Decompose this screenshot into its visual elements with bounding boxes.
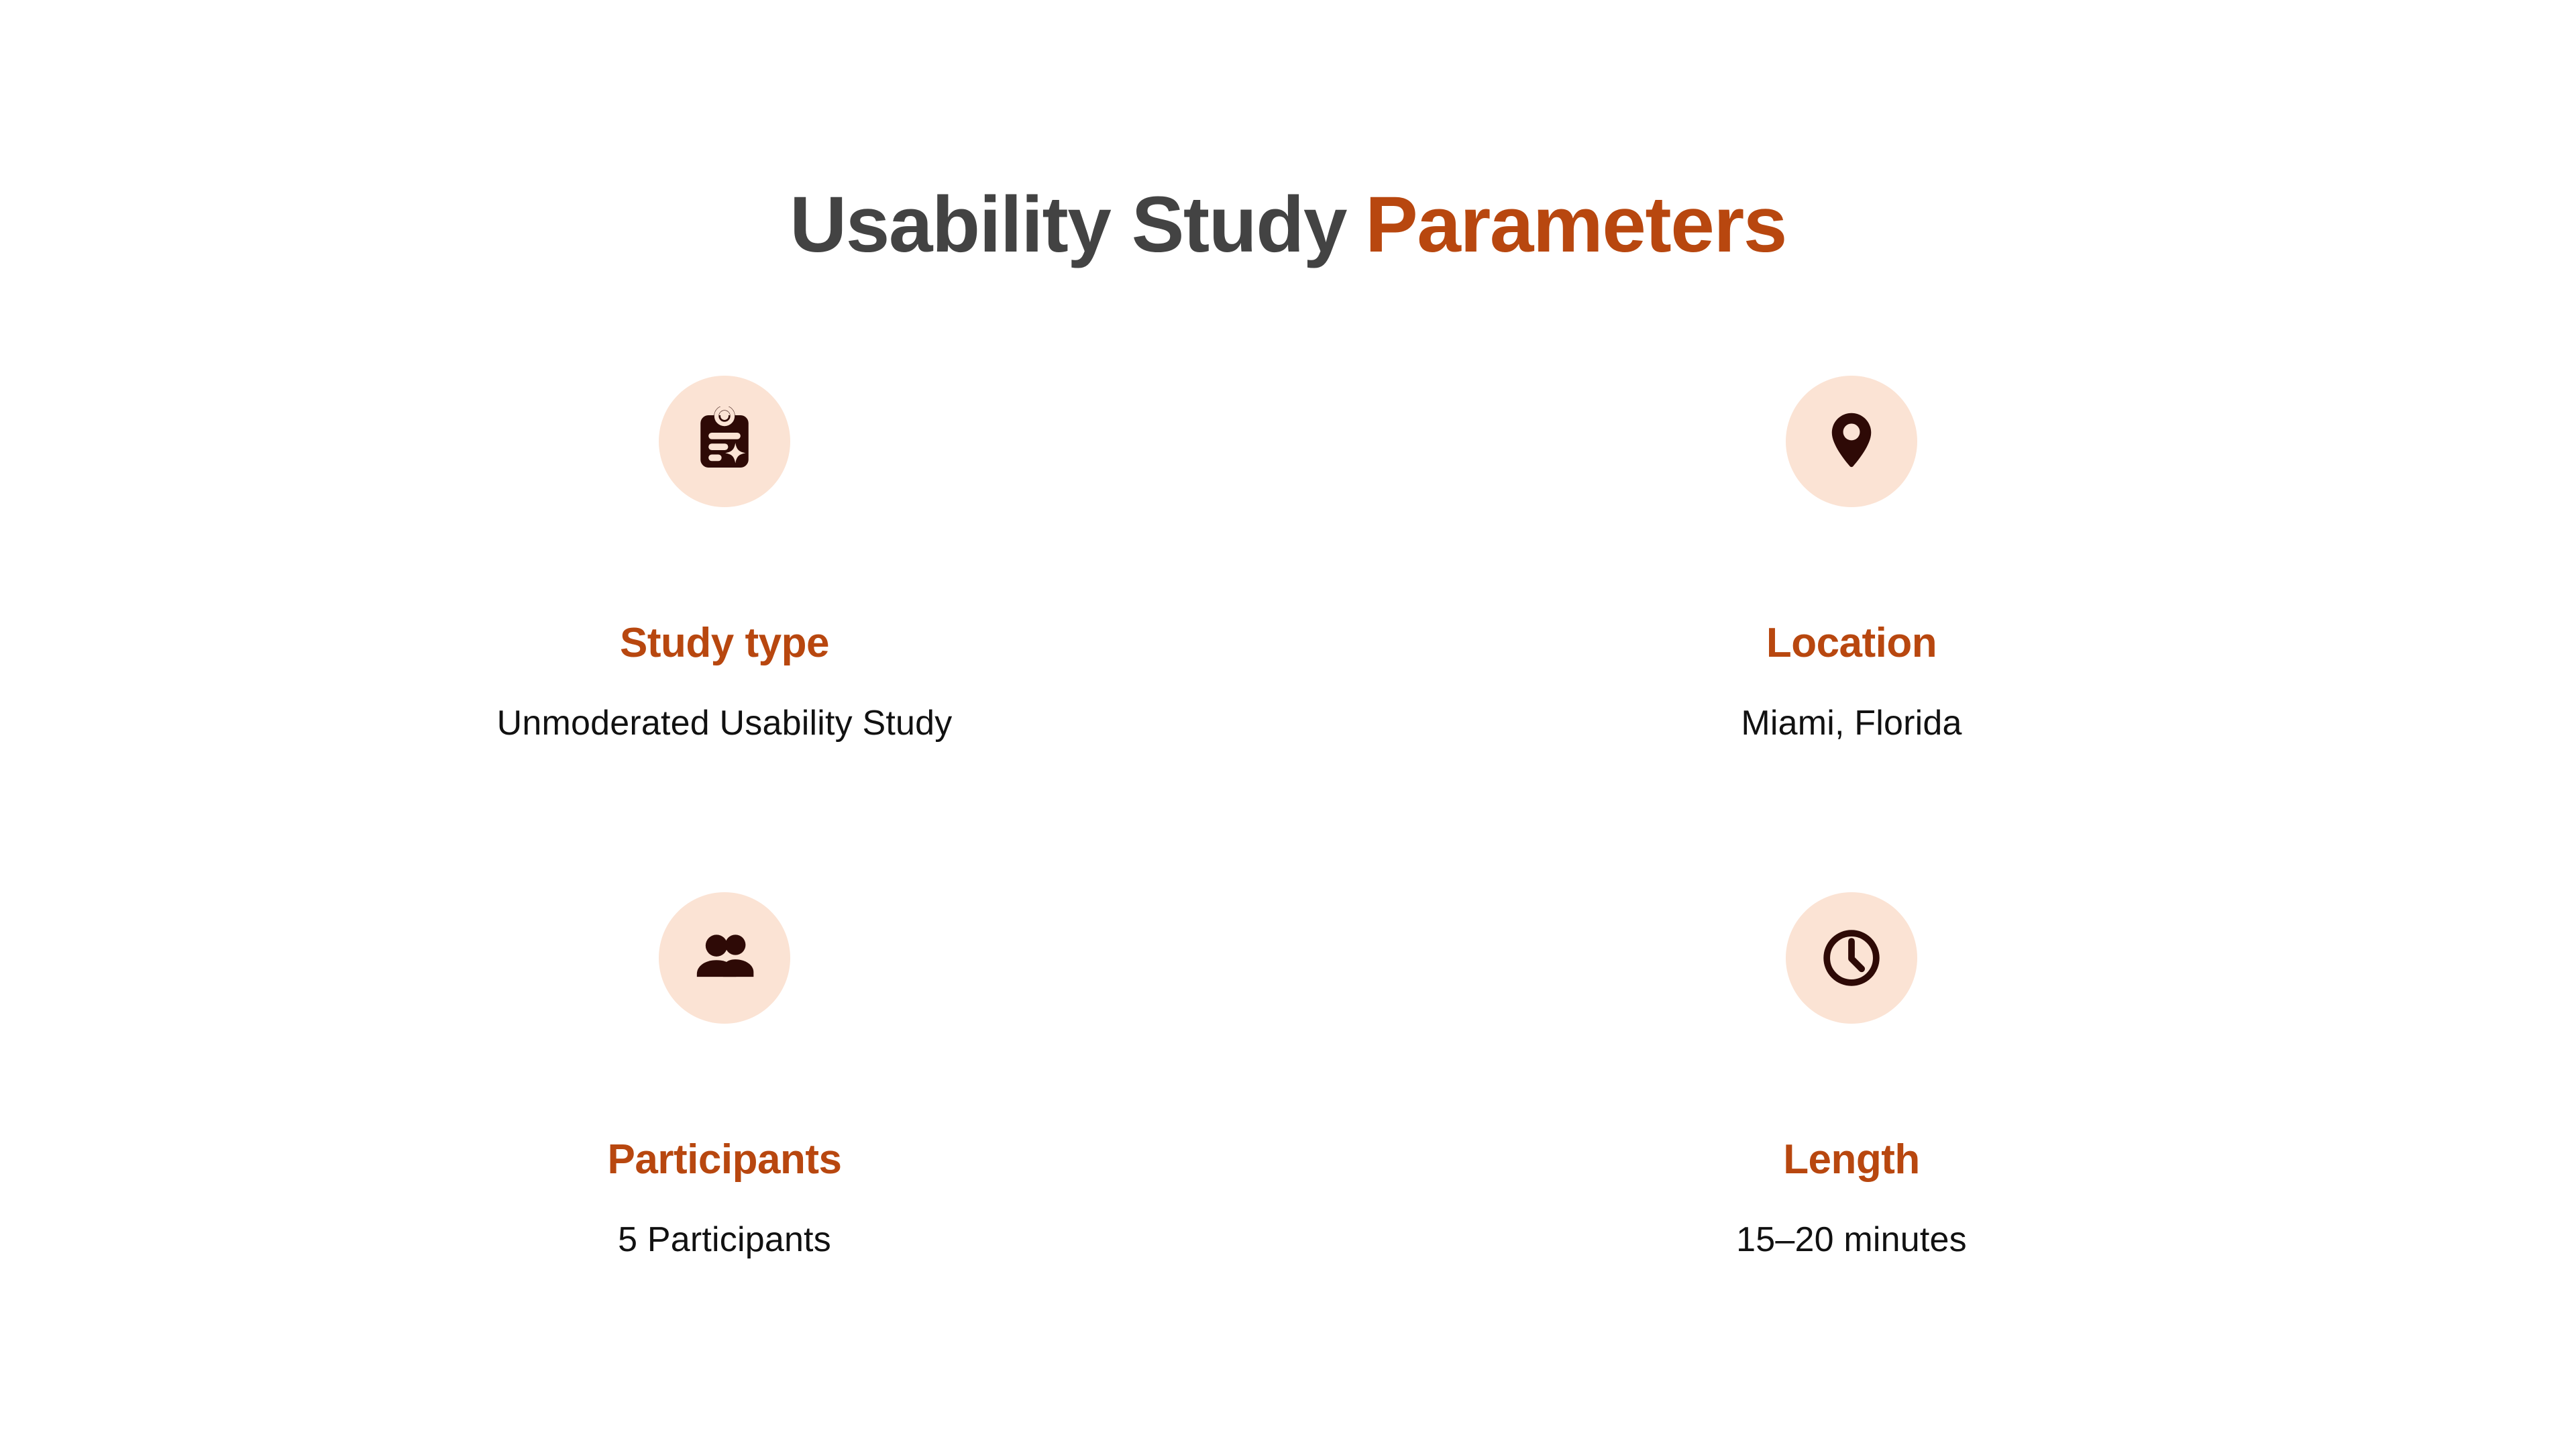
parameter-label: Participants [608,1139,842,1181]
parameter-value: 15–20 minutes [1736,1222,1967,1257]
icon-badge-location [1786,376,1917,507]
parameter-label: Location [1766,623,1937,664]
icon-badge-participants [659,892,790,1024]
parameter-value: Miami, Florida [1741,706,1962,741]
icon-badge-length [1786,892,1917,1024]
parameter-label: Length [1783,1139,1920,1181]
page-title-primary: Usability Study [790,180,1346,269]
page-title-text: Usability StudyParameters [790,182,1786,269]
clipboard-sparkle-icon [690,407,759,476]
icon-badge-study-type [659,376,790,507]
parameters-grid: Study type Unmoderated Usability Study L… [161,376,2415,1409]
parameter-value: Unmoderated Usability Study [497,706,953,741]
parameter-card-participants: Participants 5 Participants [161,892,1288,1409]
location-pin-icon [1817,407,1886,476]
parameter-card-study-type: Study type Unmoderated Usability Study [161,376,1288,892]
parameter-value: 5 Participants [618,1222,831,1257]
page-title-accent: Parameters [1365,180,1786,269]
parameter-card-length: Length 15–20 minutes [1288,892,2415,1409]
clock-icon [1817,923,1886,993]
parameter-card-location: Location Miami, Florida [1288,376,2415,892]
parameter-label: Study type [620,623,829,664]
slide-root: Usability StudyParameters [0,0,2576,1449]
people-group-icon [690,923,759,993]
page-title: Usability StudyParameters [0,129,2576,322]
